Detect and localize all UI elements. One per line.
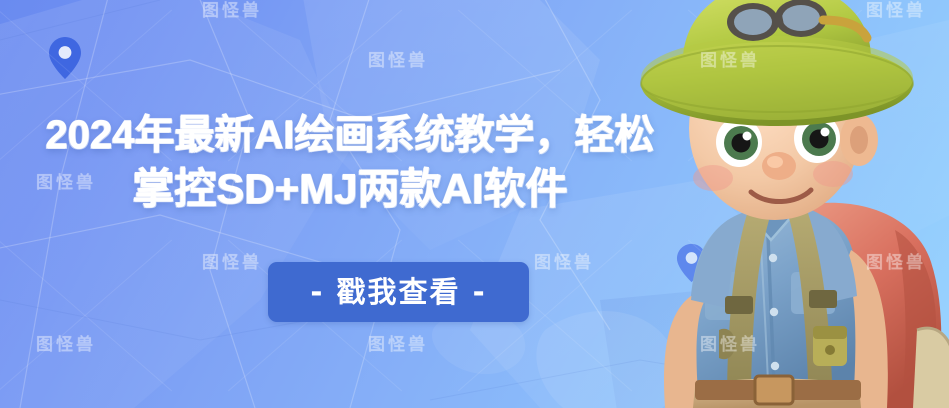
background-shapes-svg: [0, 0, 949, 408]
watermark-text: 图怪兽: [700, 330, 760, 355]
watermark-text: 图怪兽: [368, 330, 428, 355]
map-pin-icon: [676, 243, 707, 283]
map-pin-glyph: [48, 36, 82, 80]
map-island-b: [432, 313, 525, 374]
watermark-text: 图怪兽: [36, 168, 96, 193]
map-landmass-right: [780, 20, 949, 260]
watermark-text: 图怪兽: [36, 330, 96, 355]
watermark-text: 图怪兽: [202, 248, 262, 273]
promo-banner: 2024年最新AI绘画系统教学，轻松 掌控SD+MJ两款AI软件 - 戳我查看 …: [0, 0, 949, 408]
map-pin-icon: [48, 36, 82, 80]
cta-button-label: - 戳我查看 -: [310, 278, 486, 307]
map-island-c: [825, 294, 944, 408]
background-map-graphic: [0, 0, 949, 408]
map-pin-glyph: [676, 243, 707, 283]
watermark-text: 图怪兽: [866, 0, 926, 21]
watermark-text: 图怪兽: [202, 0, 262, 21]
watermark-text: 图怪兽: [534, 248, 594, 273]
watermark-text: 图怪兽: [700, 46, 760, 71]
cta-button[interactable]: - 戳我查看 -: [268, 262, 529, 322]
watermark-text: 图怪兽: [866, 248, 926, 273]
watermark-text: 图怪兽: [368, 46, 428, 71]
